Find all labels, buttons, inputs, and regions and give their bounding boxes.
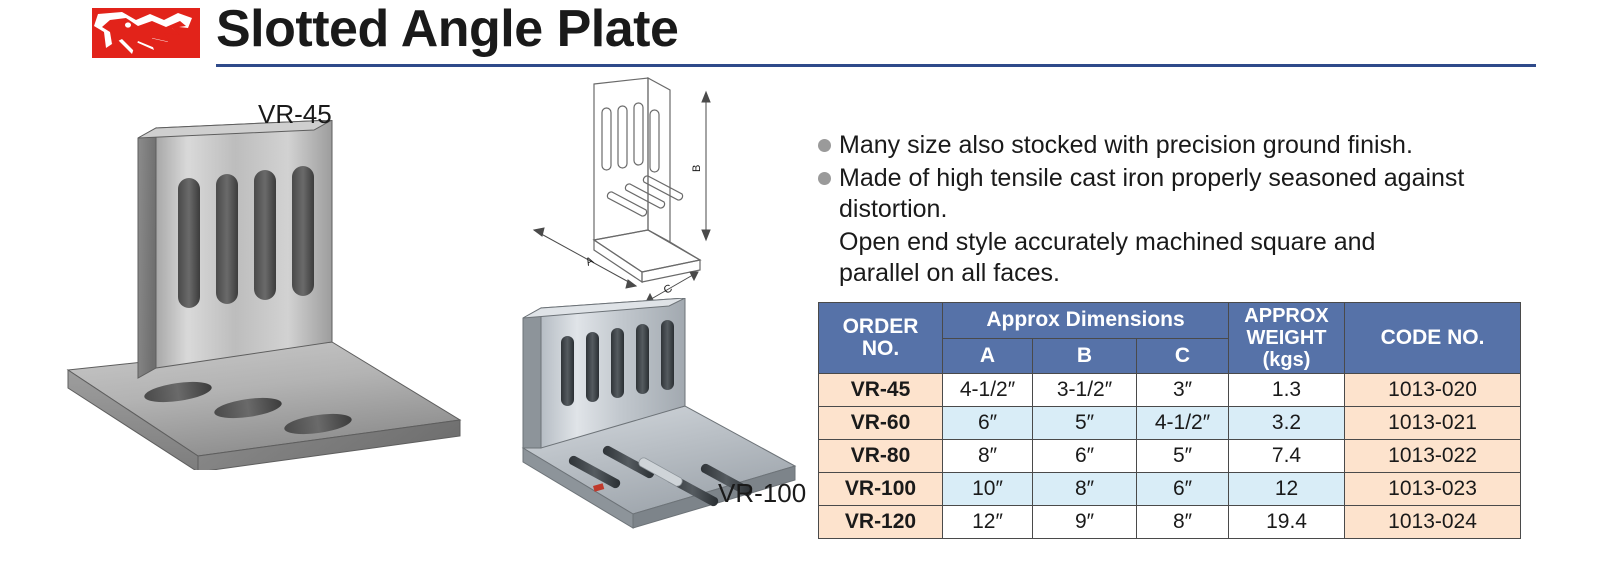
cell-order-no: VR-100: [819, 473, 943, 506]
feature-text: Made of high tensile cast iron properly …: [839, 163, 1518, 225]
cell-weight: 19.4: [1229, 506, 1345, 539]
title-divider: [216, 64, 1536, 67]
dimension-label-b: B: [691, 165, 703, 172]
dimension-label-a: A: [584, 254, 597, 268]
vr100-label: VR-100: [718, 478, 806, 509]
table-row: VR-80 8″ 6″ 5″ 7.4 1013-022: [819, 440, 1521, 473]
feature-text: Many size also stocked with precision gr…: [839, 130, 1413, 161]
cell-weight: 12: [1229, 473, 1345, 506]
specification-table-wrapper: ORDER NO. Approx Dimensions APPROX WEIGH…: [818, 302, 1520, 539]
cell-dimension-b: 9″: [1033, 506, 1137, 539]
column-header-approx-weight: APPROX WEIGHT (kgs): [1229, 303, 1345, 374]
list-item: Made of high tensile cast iron properly …: [818, 163, 1518, 225]
specification-table: ORDER NO. Approx Dimensions APPROX WEIGH…: [818, 302, 1521, 539]
eagle-head-logo: [92, 8, 200, 58]
cell-dimension-c: 5″: [1137, 440, 1229, 473]
column-header-b: B: [1033, 338, 1137, 374]
bullet-dot-icon: [818, 139, 831, 152]
column-header-approx-dimensions: Approx Dimensions: [943, 303, 1229, 339]
cell-weight: 3.2: [1229, 407, 1345, 440]
cell-dimension-a: 8″: [943, 440, 1033, 473]
list-item: Many size also stocked with precision gr…: [818, 130, 1518, 161]
cell-dimension-a: 6″: [943, 407, 1033, 440]
cell-dimension-a: 12″: [943, 506, 1033, 539]
bullet-dot-icon: [818, 172, 831, 185]
table-body: VR-45 4-1/2″ 3-1/2″ 3″ 1.3 1013-020 VR-6…: [819, 374, 1521, 539]
cell-dimension-b: 8″: [1033, 473, 1137, 506]
vr45-label: VR-45: [258, 99, 332, 130]
column-header-order-no-line1: ORDER: [821, 316, 940, 338]
page-title: Slotted Angle Plate: [216, 0, 678, 59]
cell-dimension-b: 6″: [1033, 440, 1137, 473]
table-row: VR-120 12″ 9″ 8″ 19.4 1013-024: [819, 506, 1521, 539]
table-row: VR-60 6″ 5″ 4-1/2″ 3.2 1013-021: [819, 407, 1521, 440]
cell-weight: 1.3: [1229, 374, 1345, 407]
cell-dimension-a: 4-1/2″: [943, 374, 1033, 407]
dimension-line-drawing: A B C: [520, 72, 780, 322]
cell-weight: 7.4: [1229, 440, 1345, 473]
table-header: ORDER NO. Approx Dimensions APPROX WEIGH…: [819, 303, 1521, 374]
cell-code-no: 1013-021: [1345, 407, 1521, 440]
cell-order-no: VR-80: [819, 440, 943, 473]
column-header-order-no-line2: NO.: [821, 338, 940, 360]
cell-code-no: 1013-020: [1345, 374, 1521, 407]
table-row: VR-100 10″ 8″ 6″ 12 1013-023: [819, 473, 1521, 506]
column-header-weight-line3: (kgs): [1231, 349, 1342, 371]
page-header: Slotted Angle Plate: [0, 0, 1600, 70]
vr45-product-illustration: [60, 120, 480, 470]
cell-code-no: 1013-022: [1345, 440, 1521, 473]
cell-dimension-a: 10″: [943, 473, 1033, 506]
feature-extra-line: parallel on all faces.: [839, 258, 1518, 289]
vr100-product-illustration: [505, 298, 805, 548]
column-header-weight-line1: APPROX: [1231, 305, 1342, 327]
column-header-c: C: [1137, 338, 1229, 374]
cell-dimension-c: 6″: [1137, 473, 1229, 506]
table-header-row-1: ORDER NO. Approx Dimensions APPROX WEIGH…: [819, 303, 1521, 339]
cell-order-no: VR-120: [819, 506, 943, 539]
cell-order-no: VR-45: [819, 374, 943, 407]
cell-code-no: 1013-023: [1345, 473, 1521, 506]
cell-dimension-c: 8″: [1137, 506, 1229, 539]
eagle-head-icon: [92, 8, 200, 58]
column-header-weight-line2: WEIGHT: [1231, 327, 1342, 349]
cell-dimension-c: 4-1/2″: [1137, 407, 1229, 440]
feature-extra-line: Open end style accurately machined squar…: [839, 227, 1518, 258]
table-row: VR-45 4-1/2″ 3-1/2″ 3″ 1.3 1013-020: [819, 374, 1521, 407]
cell-dimension-b: 3-1/2″: [1033, 374, 1137, 407]
column-header-order-no: ORDER NO.: [819, 303, 943, 374]
cell-dimension-b: 5″: [1033, 407, 1137, 440]
dimension-label-c: C: [662, 282, 675, 296]
column-header-code-no: CODE NO.: [1345, 303, 1521, 374]
column-header-a: A: [943, 338, 1033, 374]
feature-list: Many size also stocked with precision gr…: [818, 130, 1518, 289]
cell-dimension-c: 3″: [1137, 374, 1229, 407]
cell-order-no: VR-60: [819, 407, 943, 440]
cell-code-no: 1013-024: [1345, 506, 1521, 539]
